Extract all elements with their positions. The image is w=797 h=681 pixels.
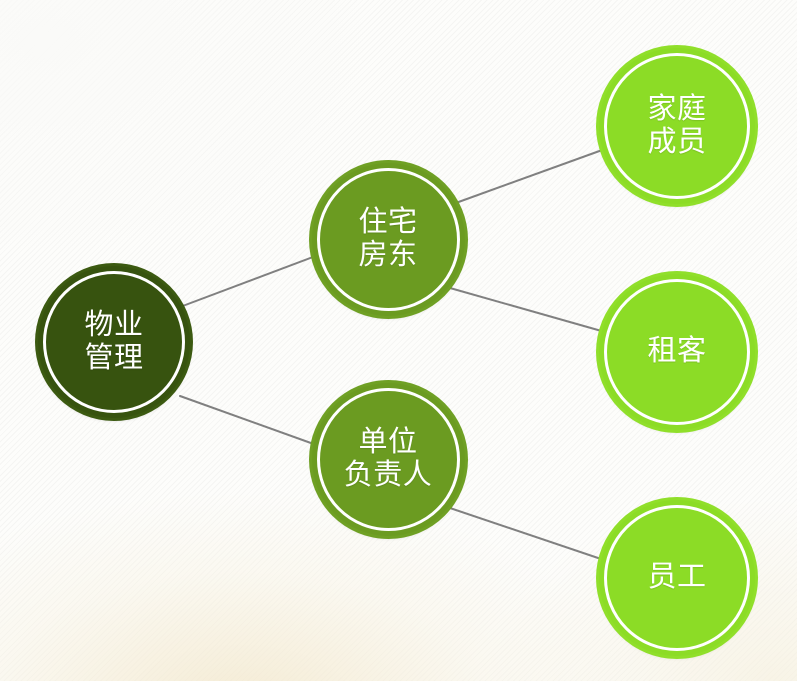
node-family-member[interactable]: 家庭 成员 [599,48,755,204]
node-label: 家庭 成员 [647,93,706,159]
diagram-canvas: 物业 管理 住宅 房东 单位 负责人 家庭 成员 租客 员工 [0,0,797,681]
node-employee[interactable]: 员工 [599,500,755,656]
edge-unit-employee [450,508,604,560]
node-label: 单位 负责人 [344,426,433,492]
node-unit-manager[interactable]: 单位 负责人 [312,383,465,536]
edge-landlord-tenant [450,288,605,332]
node-label: 员工 [647,561,706,594]
edge-root-unit [180,396,322,447]
edge-root-landlord [180,254,321,307]
node-label: 住宅 房东 [358,206,417,272]
node-property-management[interactable]: 物业 管理 [38,266,190,418]
node-label: 租客 [647,335,706,368]
node-label: 物业 管理 [84,309,143,375]
node-residential-landlord[interactable]: 住宅 房东 [312,163,465,316]
node-tenant[interactable]: 租客 [599,274,755,430]
edge-landlord-family [453,149,605,204]
